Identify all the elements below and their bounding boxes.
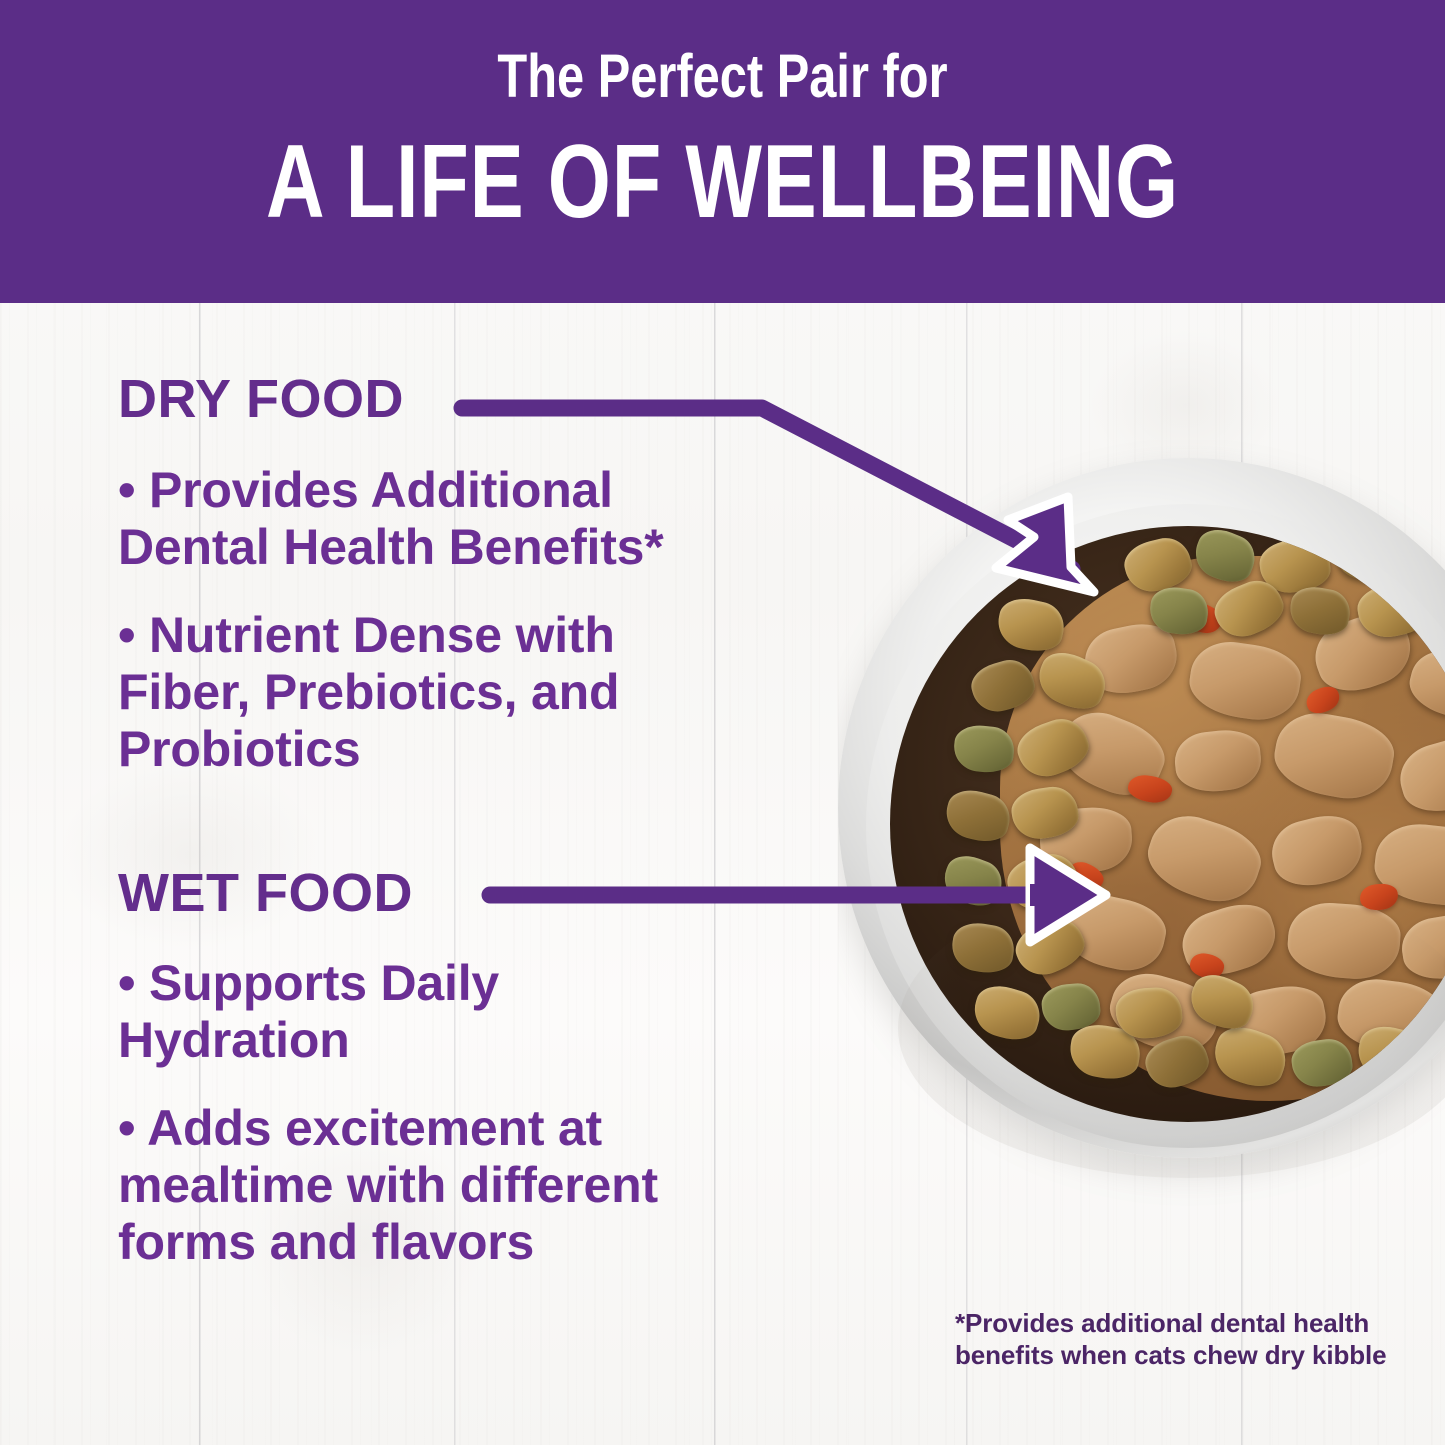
bowl-rim-outer — [838, 458, 1445, 1158]
bullet-dry-2: • Nutrient Dense with Fiber, Prebiotics,… — [118, 607, 758, 778]
bullet-dry-1: • Provides Additional Dental Health Bene… — [118, 462, 758, 576]
banner-title: A LIFE OF WELLBEING — [159, 130, 1286, 234]
dry-kibble — [968, 979, 1046, 1046]
food-bowl-photo — [838, 440, 1445, 1296]
header-banner: The Perfect Pair for A LIFE OF WELLBEING — [0, 0, 1445, 303]
dry-kibble — [949, 919, 1018, 976]
banner-kicker: The Perfect Pair for — [145, 46, 1301, 107]
bullet-wet-1: • Supports Daily Hydration — [118, 955, 738, 1069]
footnote-text: *Provides additional dental health benef… — [955, 1308, 1425, 1371]
dry-kibble — [938, 849, 1009, 913]
infographic-page: The Perfect Pair for A LIFE OF WELLBEING — [0, 0, 1445, 1445]
section-heading-dry-food: DRY FOOD — [118, 372, 404, 426]
bullet-wet-2: • Adds excitement at mealtime with diffe… — [118, 1100, 738, 1271]
section-heading-wet-food: WET FOOD — [118, 866, 413, 920]
